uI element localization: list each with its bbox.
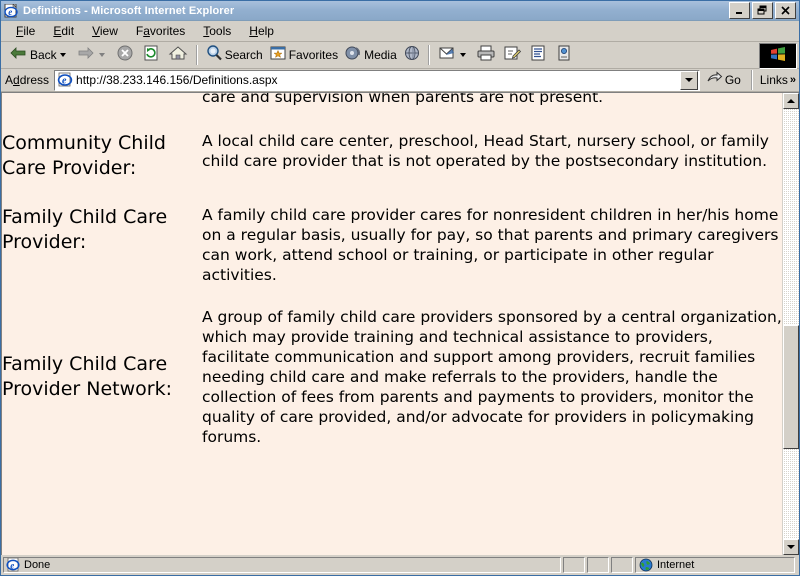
status-panel-4 [611, 557, 633, 573]
links-label: Links [760, 73, 788, 87]
refresh-icon [141, 44, 161, 67]
mail-icon [437, 44, 457, 67]
forward-arrow-icon [76, 45, 96, 66]
toolbar-separator [196, 45, 198, 65]
vertical-scrollbar[interactable] [782, 93, 799, 555]
ie-page-icon: e [57, 72, 73, 88]
stop-button [112, 44, 138, 66]
edit-button[interactable] [499, 44, 525, 66]
messenger-button[interactable] [551, 44, 577, 66]
print-button[interactable] [473, 44, 499, 66]
definition-cell: include children of staff or faculty) wh… [202, 93, 782, 131]
status-panel-2 [563, 557, 585, 573]
scroll-down-arrow-icon [787, 545, 795, 549]
scroll-down-button[interactable] [783, 539, 799, 555]
window-controls [729, 2, 796, 19]
svg-text:e: e [8, 7, 12, 17]
scroll-up-arrow-icon [787, 99, 795, 103]
favorites-star-icon [269, 45, 287, 66]
definitions-container: Children: include children of staff or f… [2, 93, 782, 457]
windows-logo-icon [768, 45, 788, 68]
menu-bar: File Edit View Favorites Tools Help [1, 21, 799, 42]
edit-icon [502, 44, 522, 67]
history-globe-icon [403, 44, 421, 67]
chevron-right-icon: » [790, 74, 796, 86]
definition-cell: A family child care provider cares for n… [202, 205, 782, 307]
links-button[interactable]: Links » [757, 73, 799, 87]
print-icon [476, 44, 496, 67]
definition-cell: A local child care center, preschool, He… [202, 131, 782, 205]
browser-window: e Definitions - Microsoft Internet Explo… [0, 0, 800, 576]
ie-document-icon: e [4, 4, 19, 18]
ie-page-icon: e [6, 558, 21, 572]
address-label: Address [5, 73, 49, 87]
minimize-button[interactable] [729, 2, 750, 19]
go-label: Go [725, 73, 741, 87]
history-button[interactable] [400, 44, 424, 66]
status-text: Done [24, 559, 50, 571]
restore-button[interactable] [752, 2, 773, 19]
toolbar: Back [1, 42, 799, 69]
window-title: Definitions - Microsoft Internet Explore… [23, 5, 729, 17]
definition-cell: A group of family child care providers s… [202, 307, 782, 457]
globe-icon [639, 558, 653, 572]
term-cell: Children: [2, 93, 202, 131]
mail-dropdown-icon[interactable] [460, 53, 466, 57]
back-arrow-icon [8, 45, 28, 66]
messenger-icon [554, 44, 574, 67]
address-separator [751, 70, 753, 90]
chevron-down-icon [685, 78, 693, 82]
menu-tools[interactable]: Tools [195, 23, 239, 39]
media-button[interactable]: Media [341, 44, 400, 66]
term-cell: Family Child Care Provider: [2, 205, 202, 307]
address-dropdown-button[interactable] [680, 71, 698, 90]
media-icon [344, 44, 362, 67]
menu-help[interactable]: Help [241, 23, 282, 39]
scroll-up-button[interactable] [783, 93, 799, 109]
go-arrow-icon [705, 70, 723, 91]
discuss-icon [528, 44, 548, 67]
definitions-table: Children: include children of staff or f… [2, 93, 782, 457]
svg-text:e: e [10, 561, 14, 571]
search-label: Search [225, 48, 263, 62]
status-panel-3 [587, 557, 609, 573]
menu-favorites[interactable]: Favorites [128, 23, 193, 39]
table-row: Family Child Care Provider Network: A gr… [2, 307, 782, 457]
term-cell: Family Child Care Provider Network: [2, 307, 202, 457]
address-input[interactable]: e http://38.233.146.156/Definitions.aspx [54, 70, 700, 91]
search-button[interactable]: Search [202, 44, 266, 66]
favorites-button[interactable]: Favorites [266, 44, 341, 66]
stop-icon [115, 44, 135, 67]
menu-edit[interactable]: Edit [45, 23, 82, 39]
scroll-thumb[interactable] [783, 325, 799, 449]
back-button[interactable]: Back [5, 44, 73, 66]
security-zone-text: Internet [657, 559, 694, 571]
home-icon [167, 44, 189, 67]
search-icon [205, 44, 223, 67]
refresh-button[interactable] [138, 44, 164, 66]
ie-animation-box [759, 43, 797, 69]
mail-button[interactable] [434, 44, 473, 66]
table-row: Family Child Care Provider: A family chi… [2, 205, 782, 307]
menu-view[interactable]: View [84, 23, 126, 39]
back-dropdown-icon[interactable] [60, 53, 66, 57]
media-label: Media [364, 48, 397, 62]
discuss-button[interactable] [525, 44, 551, 66]
close-button[interactable] [775, 2, 796, 19]
address-url-text: http://38.233.146.156/Definitions.aspx [76, 73, 680, 87]
forward-dropdown-icon [99, 53, 105, 57]
menu-file[interactable]: File [8, 23, 43, 39]
home-button[interactable] [164, 44, 192, 66]
favorites-label: Favorites [289, 48, 338, 62]
table-row: Community Child Care Provider: A local c… [2, 131, 782, 205]
security-zone-panel[interactable]: Internet [635, 557, 795, 573]
table-row: Children: include children of staff or f… [2, 93, 782, 131]
status-bar: e Done Internet [1, 555, 799, 575]
go-button[interactable]: Go [700, 70, 747, 91]
toolbar-separator-2 [428, 45, 430, 65]
term-cell: Community Child Care Provider: [2, 131, 202, 205]
address-bar: Address e http://38.233.146.156/Definiti… [1, 69, 799, 92]
title-bar: e Definitions - Microsoft Internet Explo… [1, 1, 799, 21]
page-content: Children: include children of staff or f… [2, 93, 782, 555]
back-label: Back [30, 48, 57, 62]
status-panel: e Done [3, 557, 561, 573]
page-viewport: Children: include children of staff or f… [1, 92, 799, 555]
svg-text:e: e [62, 76, 67, 87]
forward-button [73, 44, 112, 66]
